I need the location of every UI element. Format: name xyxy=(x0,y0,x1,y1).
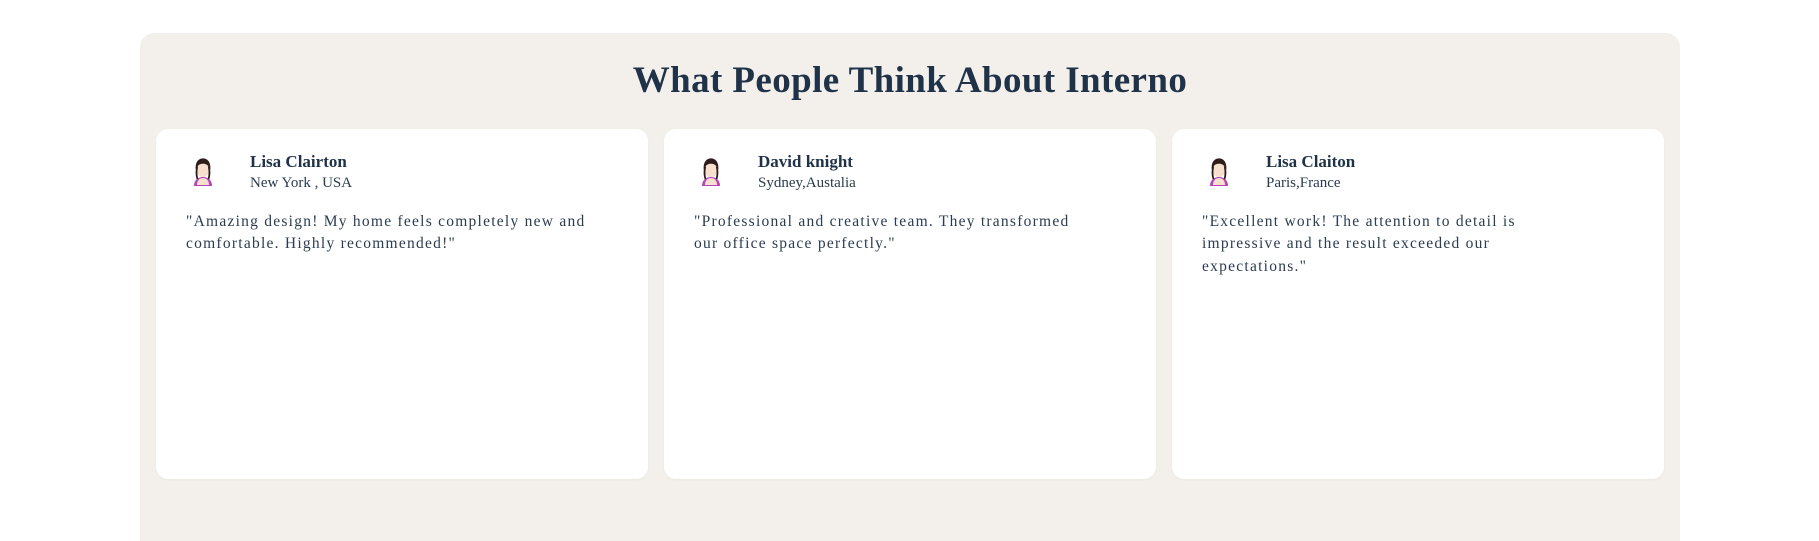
author-meta: Lisa Clairton New York , USA xyxy=(232,151,352,195)
author-name: Lisa Clairton xyxy=(250,151,352,173)
testimonial-quote: "Professional and creative team. They tr… xyxy=(692,211,1094,256)
woman-avatar-icon xyxy=(696,156,726,190)
testimonial-card[interactable]: David knight Sydney,Austalia "Profession… xyxy=(664,129,1156,479)
testimonial-card[interactable]: Lisa Clairton New York , USA "Amazing de… xyxy=(156,129,648,479)
testimonial-author: Lisa Clairton New York , USA xyxy=(184,151,620,195)
testimonial-card[interactable]: Lisa Claiton Paris,France "Excellent wor… xyxy=(1172,129,1664,479)
testimonials-section: What People Think About Interno xyxy=(140,33,1680,541)
author-meta: Lisa Claiton Paris,France xyxy=(1248,151,1355,195)
author-name: David knight xyxy=(758,151,856,173)
author-location: Paris,France xyxy=(1266,173,1355,195)
testimonial-quote: "Excellent work! The attention to detail… xyxy=(1200,211,1532,278)
page-title: What People Think About Interno xyxy=(140,33,1680,105)
woman-avatar-icon xyxy=(188,156,218,190)
author-meta: David knight Sydney,Austalia xyxy=(740,151,856,195)
author-location: Sydney,Austalia xyxy=(758,173,856,195)
testimonial-quote: "Amazing design! My home feels completel… xyxy=(184,211,606,256)
author-location: New York , USA xyxy=(250,173,352,195)
testimonial-author: Lisa Claiton Paris,France xyxy=(1200,151,1636,195)
testimonial-cards-row: Lisa Clairton New York , USA "Amazing de… xyxy=(140,105,1680,479)
testimonial-author: David knight Sydney,Austalia xyxy=(692,151,1128,195)
page-root: What People Think About Interno xyxy=(0,0,1819,541)
woman-avatar-icon xyxy=(1204,156,1234,190)
author-name: Lisa Claiton xyxy=(1266,151,1355,173)
